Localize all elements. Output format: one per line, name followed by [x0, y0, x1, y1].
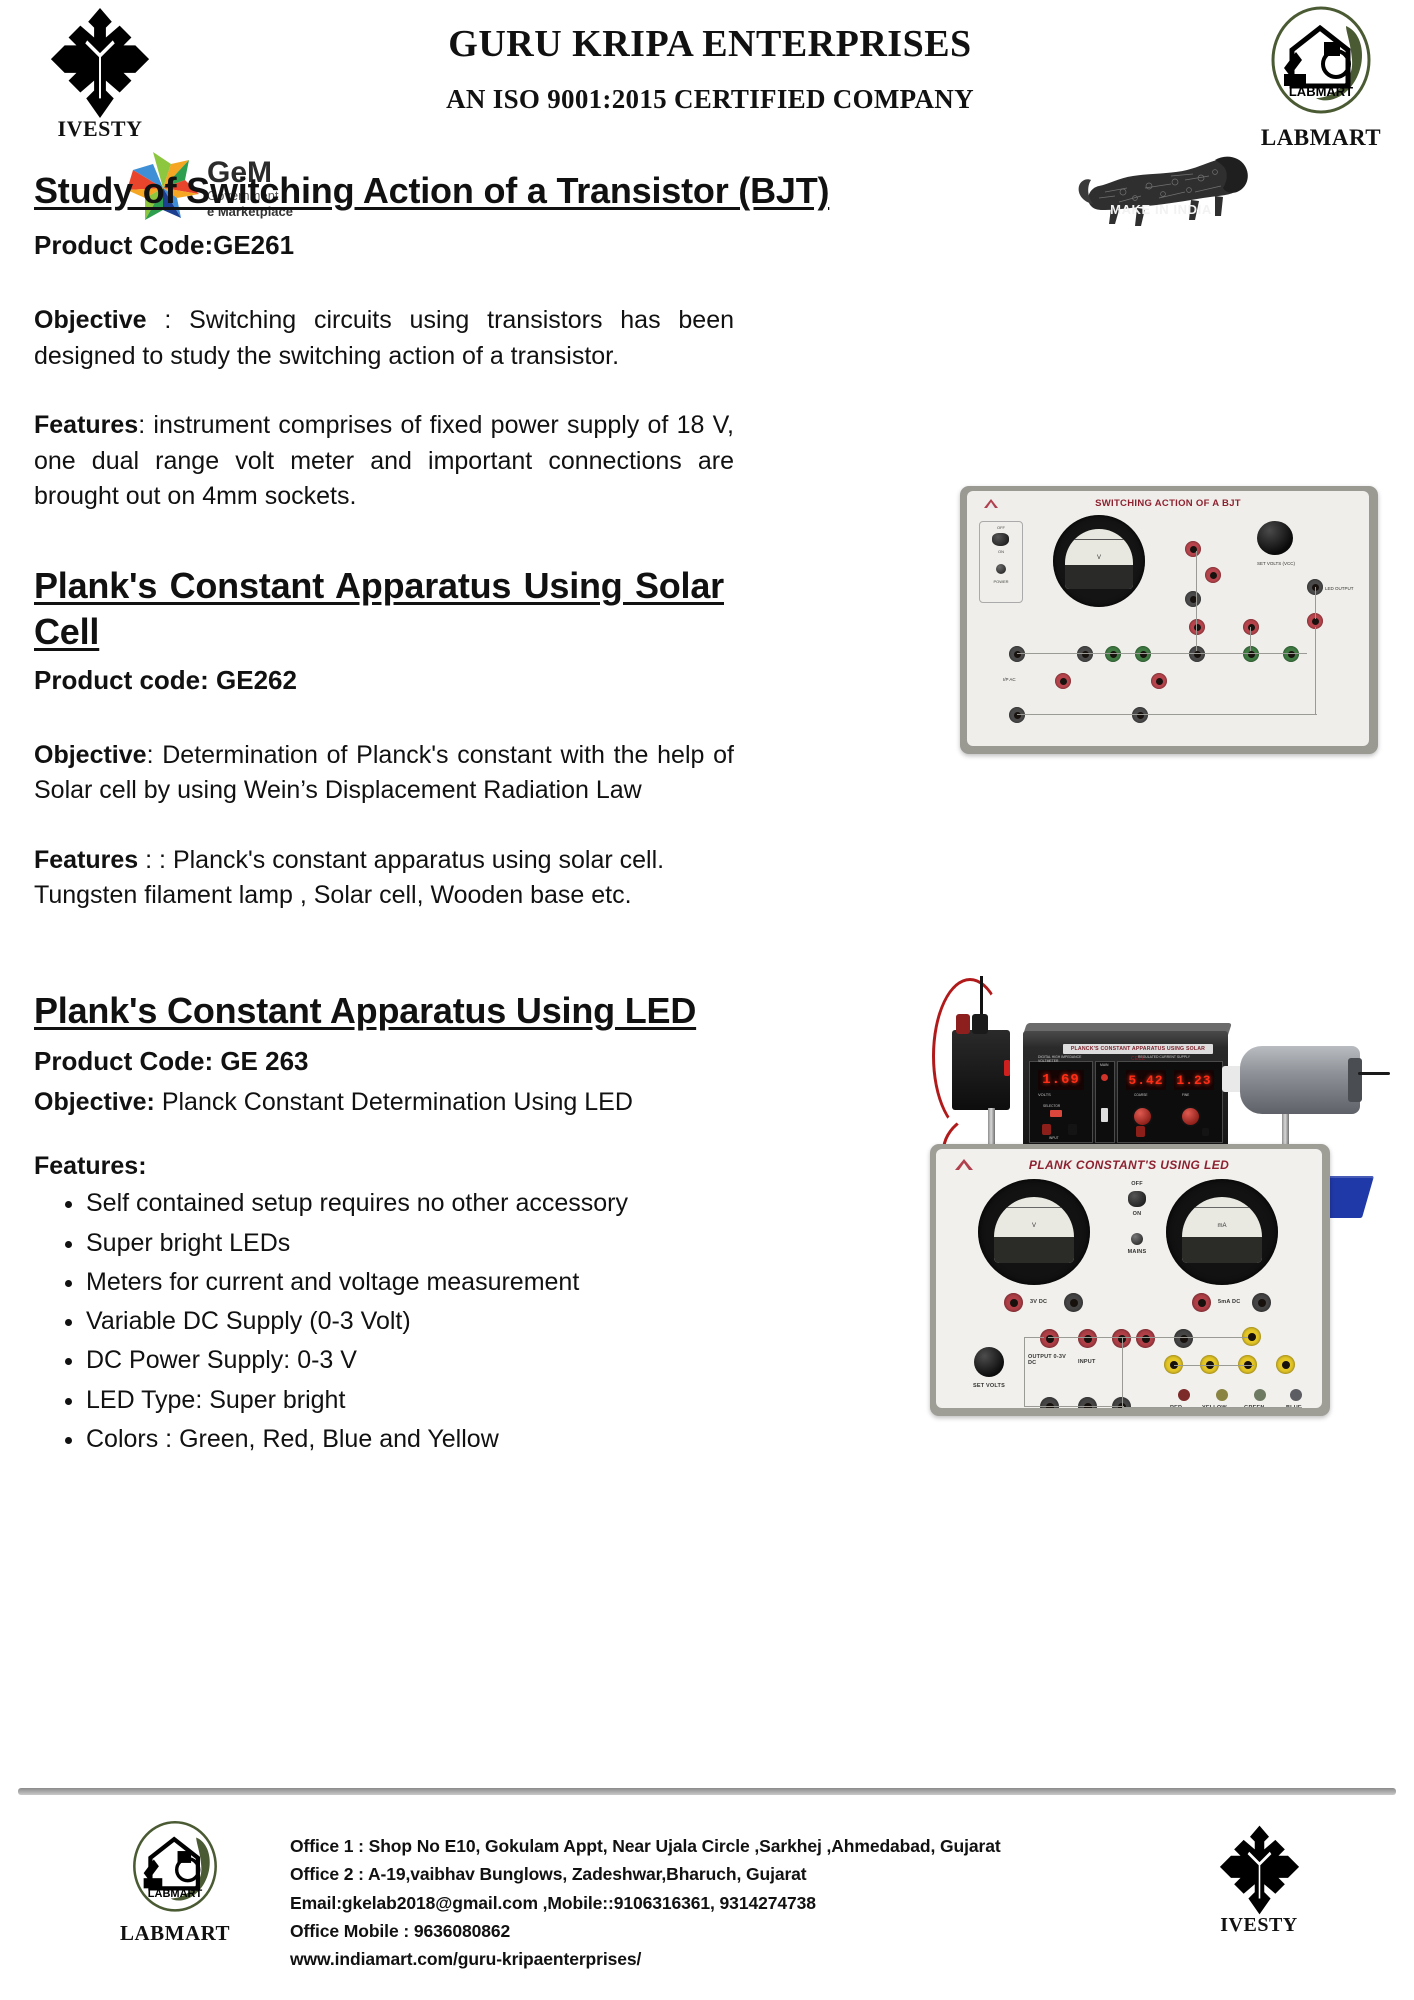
page-content: Study of Switching Action of a Transisto…	[0, 168, 1414, 1457]
product-image-led: PLANK CONSTANT'S USING LED V mA O	[930, 1144, 1330, 1416]
objective-paragraph-1: Objective : Switching circuits using tra…	[34, 303, 734, 374]
solar-current-supply-panel: REGULATED CURRENT SUPPLY 5.42 1.23 COARS…	[1117, 1061, 1223, 1143]
bjt-set-volts-label: SET VOLTS (VCC)	[1249, 561, 1303, 566]
led-set-volts-knob[interactable]	[974, 1347, 1004, 1377]
svg-text:LABMART: LABMART	[148, 1888, 203, 1900]
bjt-switch-box: OFF ON POWER	[979, 521, 1023, 603]
bjt-jack-red-r1[interactable]	[1055, 673, 1071, 689]
company-title: GURU KRIPA ENTERPRISES	[330, 22, 1090, 66]
footer-labmart-label: LABMART	[105, 1921, 245, 1946]
solar-display-1: 1.69	[1038, 1070, 1084, 1090]
solar-mains-switch[interactable]	[1101, 1108, 1108, 1122]
solar-instrument-box: PLANCK'S CONSTANT APPARATUS USING SOLAR …	[1023, 1031, 1228, 1151]
labmart-mark-icon: LABMART	[1262, 6, 1380, 118]
footer-ivesty-logo: IVESTY	[1194, 1824, 1324, 1937]
bjt-meter-scale	[1071, 539, 1127, 556]
solar-input-jack-red[interactable]	[1042, 1124, 1051, 1135]
solar-cell-housing	[952, 1030, 1010, 1110]
led-input-label: INPUT	[1078, 1359, 1096, 1365]
led-voltage-unit: V	[994, 1223, 1074, 1229]
bjt-panel-face: SWITCHING ACTION OF A BJT OFF ON POWER V	[967, 491, 1369, 746]
footer-line-website[interactable]: www.indiamart.com/guru-kripaenterprises/	[290, 1945, 1001, 1973]
footer-line-email: Email:gkelab2018@gmail.com ,Mobile::9106…	[290, 1889, 1001, 1917]
features-label-2: Features	[34, 846, 138, 874]
features-paragraph-1: Features: instrument comprises of fixed …	[34, 408, 734, 515]
ivesty-logo: IVESTY	[30, 8, 170, 142]
feature-item: Meters for current and voltage measureme…	[86, 1264, 806, 1300]
led-dot-green	[1254, 1389, 1266, 1401]
solar-coarse-label: COARSE	[1134, 1093, 1147, 1097]
bjt-ip-label: I/P AC	[1003, 677, 1016, 682]
bjt-power-lamp	[996, 564, 1006, 574]
bjt-wire-v3	[1315, 587, 1316, 619]
page-header: IVESTY GURU KRIPA ENTERPRISES AN ISO 900…	[0, 0, 1414, 150]
section-title-1: Study of Switching Action of a Transisto…	[34, 168, 1380, 214]
solar-mains-panel: MAIN	[1095, 1061, 1115, 1143]
bjt-jack-black-1[interactable]	[1185, 591, 1201, 607]
section-title-2: Plank's Constant Apparatus Using Solar C…	[34, 563, 724, 655]
bjt-panel-body: SWITCHING ACTION OF A BJT OFF ON POWER V	[960, 486, 1378, 754]
bjt-power-toggle[interactable]	[992, 533, 1009, 546]
features-list-3: Self contained setup requires no other a…	[34, 1185, 806, 1457]
solar-display-3: 1.23	[1174, 1070, 1214, 1090]
objective-label-1: Objective	[34, 306, 147, 334]
svg-text:LABMART: LABMART	[1289, 84, 1353, 99]
led-left-range-label: 3V DC	[1030, 1299, 1047, 1305]
solar-cell-connector-black	[972, 1014, 988, 1034]
led-output-label: OUTPUT 0-3V DC	[1028, 1354, 1068, 1366]
led-voltage-meter: V	[978, 1179, 1090, 1285]
objective-label-2: Objective	[34, 741, 147, 769]
bjt-jack-red-r3[interactable]	[1189, 619, 1205, 635]
solar-lamp-back	[1348, 1058, 1362, 1102]
bjt-jack-black-in1[interactable]	[1009, 646, 1025, 662]
ivesty-mark-icon	[40, 8, 160, 118]
footer-address-block: Office 1 : Shop No E10, Gokulam Appt, Ne…	[290, 1832, 1001, 1974]
bjt-jack-green-3[interactable]	[1243, 646, 1259, 662]
led-current-meter-face: mA	[1182, 1197, 1262, 1263]
objective-label-3: Objective:	[34, 1088, 155, 1116]
bjt-jack-red-2[interactable]	[1205, 567, 1221, 583]
solar-selector-switch[interactable]	[1050, 1110, 1062, 1117]
bjt-wire-v1	[1196, 551, 1197, 651]
led-voltage-meter-face: V	[994, 1197, 1074, 1263]
bjt-on-label: ON	[980, 549, 1022, 554]
bjt-jack-red-r4[interactable]	[1243, 619, 1259, 635]
feature-item: Variable DC Supply (0-3 Volt)	[86, 1303, 806, 1339]
bjt-jack-red-1[interactable]	[1185, 541, 1201, 557]
solar-voltmeter-label: DIGITAL HIGH IMPEDANCE VOLTMETER	[1038, 1055, 1092, 1063]
solar-voltmeter-panel: 1.69 VOLTS DIGITAL HIGH IMPEDANCE VOLTME…	[1029, 1061, 1093, 1143]
led-right-range-label: 5mA DC	[1218, 1299, 1240, 1305]
led-v-jack-black[interactable]	[1064, 1293, 1083, 1312]
bjt-analog-meter: V	[1053, 515, 1145, 607]
objective-paragraph-2: Objective: Determination of Planck's con…	[34, 738, 734, 809]
led-set-volts-label: SET VOLTS	[966, 1383, 1012, 1389]
bjt-led-output-label: LED OUTPUT	[1325, 586, 1355, 591]
bjt-jack-black-b1[interactable]	[1132, 707, 1148, 723]
features-text-1: : instrument comprises of fixed power su…	[34, 411, 734, 510]
bjt-panel-title: SWITCHING ACTION OF A BJT	[967, 498, 1369, 509]
company-heading: GURU KRIPA ENTERPRISES AN ISO 9001:2015 …	[330, 22, 1090, 115]
solar-display-2: 5.42	[1126, 1070, 1166, 1090]
led-i-jack-black[interactable]	[1252, 1293, 1271, 1312]
objective-text-3: Planck Constant Determination Using LED	[155, 1088, 633, 1116]
solar-panel-title: PLANCK'S CONSTANT APPARATUS USING SOLAR …	[1063, 1044, 1213, 1054]
footer-line-office2: Office 2 : A-19,vaibhav Bunglows, Zadesh…	[290, 1860, 1001, 1888]
led-panel-face: PLANK CONSTANT'S USING LED V mA O	[936, 1149, 1322, 1408]
bjt-jack-black-in2[interactable]	[1009, 707, 1025, 723]
footer-divider	[18, 1788, 1396, 1795]
bjt-jack-red-r2[interactable]	[1151, 673, 1167, 689]
led-jack-yellow-4[interactable]	[1276, 1355, 1295, 1374]
led-bus-jack-black[interactable]	[1174, 1329, 1193, 1348]
bjt-wire-v4	[1315, 627, 1316, 715]
feature-item: Colors : Green, Red, Blue and Yellow	[86, 1421, 806, 1457]
product-code-1: Product Code:GE261	[34, 230, 1380, 261]
bjt-power-label: POWER	[980, 579, 1022, 584]
led-current-unit: mA	[1182, 1223, 1262, 1229]
footer-line-office1: Office 1 : Shop No E10, Gokulam Appt, Ne…	[290, 1832, 1001, 1860]
led-off-label: OFF	[1122, 1181, 1152, 1187]
led-panel-title: PLANK CONSTANT'S USING LED	[936, 1158, 1322, 1172]
objective-paragraph-3: Objective: Planck Constant Determination…	[34, 1085, 734, 1121]
led-out-jack-red[interactable]	[1040, 1329, 1059, 1348]
led-dot-yellow	[1216, 1389, 1228, 1401]
led-v-jack-red[interactable]	[1004, 1293, 1023, 1312]
bjt-jack-black-c2[interactable]	[1189, 646, 1205, 662]
led-panel-body: PLANK CONSTANT'S USING LED V mA O	[930, 1144, 1330, 1416]
bjt-wire-h2	[1017, 714, 1317, 715]
bjt-meter-shadow	[1065, 565, 1133, 589]
led-in-jack-red-1[interactable]	[1078, 1329, 1097, 1348]
bjt-jack-green-4[interactable]	[1283, 646, 1299, 662]
footer-line-mobile: Office Mobile : 9636080862	[290, 1917, 1001, 1945]
ivesty-label: IVESTY	[30, 116, 170, 142]
solar-mains-label: MAIN	[1100, 1063, 1108, 1067]
feature-item: LED Type: Super bright	[86, 1382, 806, 1418]
solar-fine-knob[interactable]	[1180, 1106, 1201, 1127]
feature-item: Self contained setup requires no other a…	[86, 1185, 806, 1221]
bjt-wire-h1	[1017, 653, 1307, 654]
solar-cell-connector-red	[956, 1014, 970, 1034]
solar-mains-lamp	[1101, 1074, 1108, 1081]
bjt-jack-black-c1[interactable]	[1077, 646, 1093, 662]
bjt-off-label: OFF	[980, 525, 1022, 530]
product-image-bjt: SWITCHING ACTION OF A BJT OFF ON POWER V	[960, 486, 1378, 754]
solar-out-jack-red[interactable]	[1136, 1126, 1145, 1137]
led-power-toggle[interactable]	[1128, 1191, 1146, 1207]
labmart-mark-icon: LABMART	[125, 1820, 225, 1916]
bjt-jack-green-1[interactable]	[1105, 646, 1121, 662]
footer-labmart-logo: LABMART LABMART	[105, 1820, 245, 1946]
led-on-label: ON	[1122, 1211, 1152, 1217]
led-dot-red	[1178, 1389, 1190, 1401]
solar-tungsten-lamp	[1240, 1046, 1360, 1114]
led-current-meter: mA	[1166, 1179, 1278, 1285]
led-mains-lamp	[1131, 1233, 1143, 1245]
solar-volts-label: VOLTS	[1038, 1092, 1051, 1097]
led-i-jack-red[interactable]	[1192, 1293, 1211, 1312]
solar-supply-label: REGULATED CURRENT SUPPLY	[1138, 1055, 1190, 1059]
labmart-logo: LABMART LABMART	[1246, 6, 1396, 151]
led-mains-label: MAINS	[1119, 1249, 1155, 1255]
solar-coarse-knob[interactable]	[1132, 1106, 1153, 1127]
feature-item: DC Power Supply: 0-3 V	[86, 1342, 806, 1378]
solar-selector-label: SELECTOR	[1043, 1104, 1060, 1108]
features-paragraph-2: Features : : Planck's constant apparatus…	[34, 843, 674, 914]
led-in-jack-red-3[interactable]	[1136, 1329, 1155, 1348]
solar-input-label: INPUT	[1049, 1136, 1059, 1140]
led-dot-blue	[1290, 1389, 1302, 1401]
bjt-wire-v2	[1250, 627, 1251, 651]
solar-out-jack-black[interactable]	[1202, 1128, 1209, 1136]
feature-item: Super bright LEDs	[86, 1225, 806, 1261]
page-footer: LABMART LABMART Office 1 : Shop No E10, …	[0, 1788, 1414, 2000]
footer-ivesty-label: IVESTY	[1194, 1914, 1324, 1937]
features-label-1: Features	[34, 411, 138, 439]
company-subtitle: AN ISO 9001:2015 CERTIFIED COMPANY	[330, 84, 1090, 115]
solar-lamp-cable	[1358, 1072, 1390, 1075]
solar-input-jack-black[interactable]	[1068, 1124, 1077, 1135]
bjt-set-volts-knob[interactable]	[1257, 521, 1293, 555]
bjt-jack-green-2[interactable]	[1135, 646, 1151, 662]
bjt-meter-face: V	[1065, 529, 1133, 589]
solar-cell-indicator	[1004, 1060, 1010, 1076]
solar-fine-label: FINE	[1182, 1093, 1189, 1097]
ivesty-mark-icon	[1212, 1824, 1307, 1916]
